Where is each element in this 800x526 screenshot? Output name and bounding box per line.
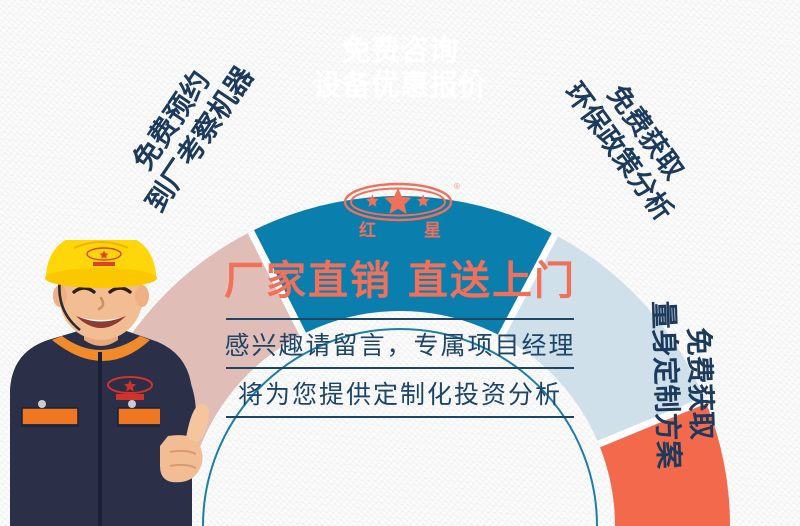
brand-logo[interactable]: ® 红 星 (335, 180, 465, 242)
worker-illustration (0, 240, 235, 526)
poster-root: 免费预约 到厂考察机器 免费咨询 设备优惠报价 免费获取 环保政策分析 免费获取… (0, 0, 800, 526)
center-content: ® 红 星 厂家直销 直送上门 感兴趣请留言，专属项目经理 将为您提供定制化投资… (190, 180, 610, 418)
logo-stars (366, 188, 430, 214)
divider-bottom (226, 416, 574, 418)
worker-button-left (38, 400, 46, 408)
registered-mark-text: ® (453, 182, 461, 191)
headline: 厂家直销 直送上门 (190, 248, 610, 306)
logo-brand-char-1: 红 (359, 216, 376, 241)
worker-ear-right (135, 285, 149, 307)
subline-1: 感兴趣请留言，专属项目经理 (190, 320, 610, 367)
segment-line2: 设备优惠报价 (285, 68, 515, 103)
segment-line2: 量身定制方案 (645, 287, 686, 483)
worker-button-right (128, 400, 136, 408)
segment-line1: 免费获取 (679, 286, 720, 482)
segment-label-free-custom-plan[interactable]: 免费获取 量身定制方案 (645, 286, 720, 483)
subline-2: 将为您提供定制化投资分析 (190, 369, 610, 416)
worker-stripe-left (22, 408, 78, 424)
worker-helmet-brim (45, 268, 157, 288)
segment-line1: 免费咨询 (285, 33, 515, 68)
worker-hand (160, 435, 203, 482)
logo-brand-char-2: 星 (424, 216, 441, 241)
segment-label-free-consult[interactable]: 免费咨询 设备优惠报价 (285, 33, 515, 104)
